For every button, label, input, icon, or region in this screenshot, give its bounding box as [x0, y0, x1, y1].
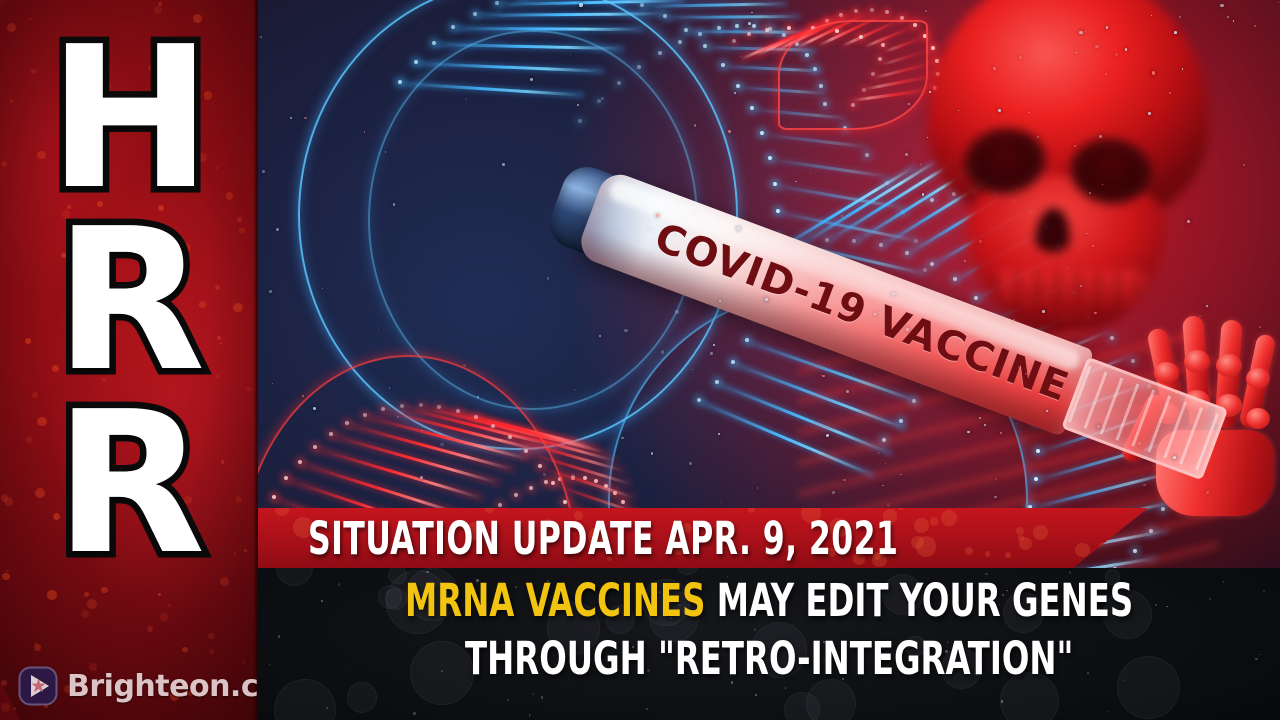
situation-update-text: SITUATION UPDATE APR. 9, 2021	[308, 508, 898, 568]
headline-line-1: MRNA VACCINES MAY EDIT YOUR GENES	[258, 578, 1280, 623]
hrr-letter-r2: R	[55, 393, 204, 575]
brighteon-logo[interactable]: Brighteon.com	[18, 666, 258, 706]
headline-line-2-text: THROUGH "RETRO-INTEGRATION"	[465, 632, 1073, 685]
headline-line-2: THROUGH "RETRO-INTEGRATION"	[258, 636, 1280, 681]
headline-line-1-rest: MAY EDIT YOUR GENES	[705, 574, 1133, 627]
skull-jaw	[966, 175, 1166, 335]
headline-banner: MRNA VACCINES MAY EDIT YOUR GENES THROUG…	[258, 568, 1280, 720]
thumbnail-canvas: COVID-19 VACCINE SITUATION UPDATE APR. 9…	[0, 0, 1280, 720]
skull-teeth	[996, 270, 1146, 310]
brighteon-logo-text: Brighteon.com	[67, 669, 258, 704]
hrr-letter-h: H	[48, 28, 210, 210]
brighteon-play-star-icon	[18, 666, 58, 706]
hrr-letter-r1: R	[55, 210, 204, 392]
hrr-wordmark: H R R	[0, 28, 258, 608]
brand-sidebar: H R R Brighteon.com	[0, 0, 258, 720]
headline-accent-text: MRNA VACCINES	[405, 574, 705, 627]
